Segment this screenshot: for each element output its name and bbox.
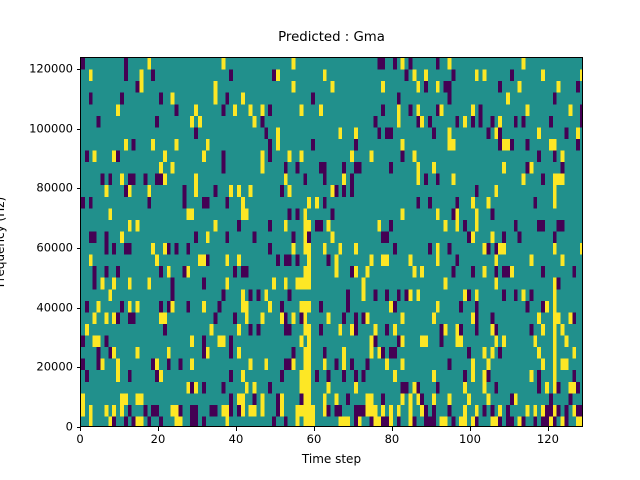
heatmap-image [81,58,583,427]
x-tick-mark [470,427,471,431]
matplotlib-figure: Predicted : Gma 020406080100120 02000040… [0,0,640,480]
x-tick-mark [548,427,549,431]
x-tick-mark [236,427,237,431]
y-tick-mark [77,427,81,428]
y-tick-label: 80000 [0,182,73,195]
x-tick-label: 20 [151,433,166,446]
y-tick-mark [77,69,81,70]
y-tick-label: 60000 [0,241,73,254]
y-tick-label: 0 [0,421,73,434]
page-title: Predicted : Gma [80,30,583,46]
x-tick-mark [80,427,81,431]
y-tick-mark [77,188,81,189]
y-tick-mark [77,248,81,249]
x-tick-label: 0 [76,433,83,446]
y-tick-mark [77,308,81,309]
y-tick-label: 40000 [0,301,73,314]
x-tick-label: 100 [459,433,481,446]
y-axis-label: Frequency (Hz) [0,197,7,288]
x-tick-mark [392,427,393,431]
x-tick-label: 60 [307,433,322,446]
y-tick-label: 100000 [0,122,73,135]
y-tick-label: 20000 [0,361,73,374]
x-tick-mark [158,427,159,431]
x-axis-label: Time step [80,452,583,466]
heatmap-axes [80,57,583,427]
x-tick-label: 80 [385,433,400,446]
x-tick-mark [314,427,315,431]
y-tick-mark [77,367,81,368]
x-tick-label: 40 [229,433,244,446]
y-tick-label: 120000 [0,62,73,75]
y-tick-mark [77,129,81,130]
x-tick-label: 120 [537,433,559,446]
